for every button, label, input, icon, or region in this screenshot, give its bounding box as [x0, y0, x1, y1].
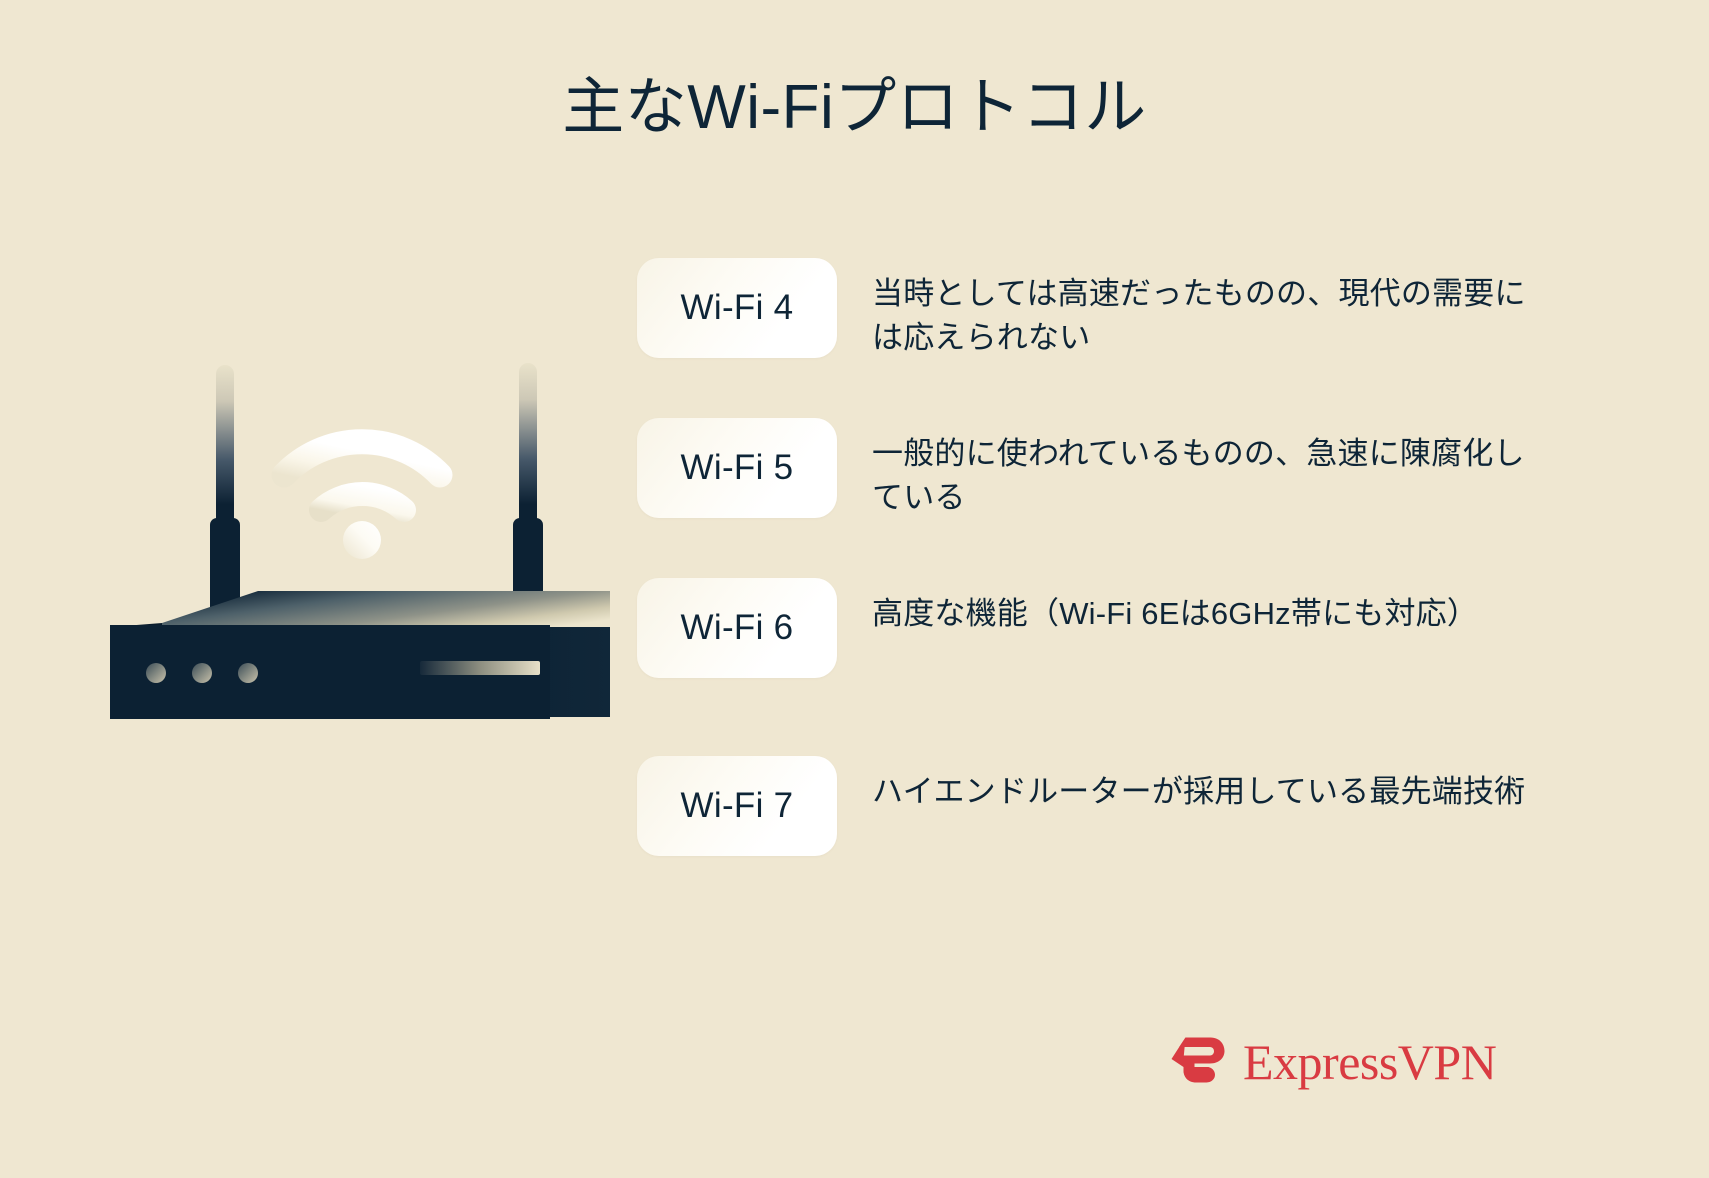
- protocol-row: Wi-Fi 5 一般的に使われているものの、急速に陳腐化している: [637, 418, 1667, 520]
- router-led: [192, 663, 212, 683]
- protocol-description-wifi-7: ハイエンドルーターが採用している最先端技術: [872, 756, 1532, 814]
- router-antenna-left: [210, 365, 240, 633]
- protocol-badge-wifi-5[interactable]: Wi-Fi 5: [637, 418, 837, 518]
- protocol-badge-wifi-7[interactable]: Wi-Fi 7: [637, 756, 837, 856]
- router-led: [238, 663, 258, 683]
- expressvpn-e-mark-icon: [1163, 1029, 1229, 1095]
- expressvpn-logo: ExpressVPN: [1163, 1027, 1496, 1097]
- protocol-badge-wifi-6[interactable]: Wi-Fi 6: [637, 578, 837, 678]
- wifi-signal-icon: [284, 442, 440, 559]
- router-led: [146, 663, 166, 683]
- protocol-row: Wi-Fi 6 高度な機能（Wi-Fi 6Eは6GHz帯にも対応）: [637, 578, 1667, 678]
- protocol-description-wifi-4: 当時としては高速だったものの、現代の需要には応えられない: [872, 258, 1532, 360]
- page-title: 主なWi-Fiプロトコル: [0, 74, 1709, 142]
- router-vent: [420, 661, 540, 675]
- protocol-row: Wi-Fi 4 当時としては高速だったものの、現代の需要には応えられない: [637, 258, 1667, 360]
- protocol-description-wifi-6: 高度な機能（Wi-Fi 6Eは6GHz帯にも対応）: [872, 578, 1532, 636]
- expressvpn-wordmark: ExpressVPN: [1243, 1037, 1496, 1087]
- protocol-list: Wi-Fi 4 当時としては高速だったものの、現代の需要には応えられない Wi-…: [637, 258, 1667, 856]
- protocol-badge-wifi-4[interactable]: Wi-Fi 4: [637, 258, 837, 358]
- protocol-description-wifi-5: 一般的に使われているものの、急速に陳腐化している: [872, 418, 1532, 520]
- protocol-row: Wi-Fi 7 ハイエンドルーターが採用している最先端技術: [637, 756, 1667, 856]
- wifi-router-illustration: [110, 355, 610, 745]
